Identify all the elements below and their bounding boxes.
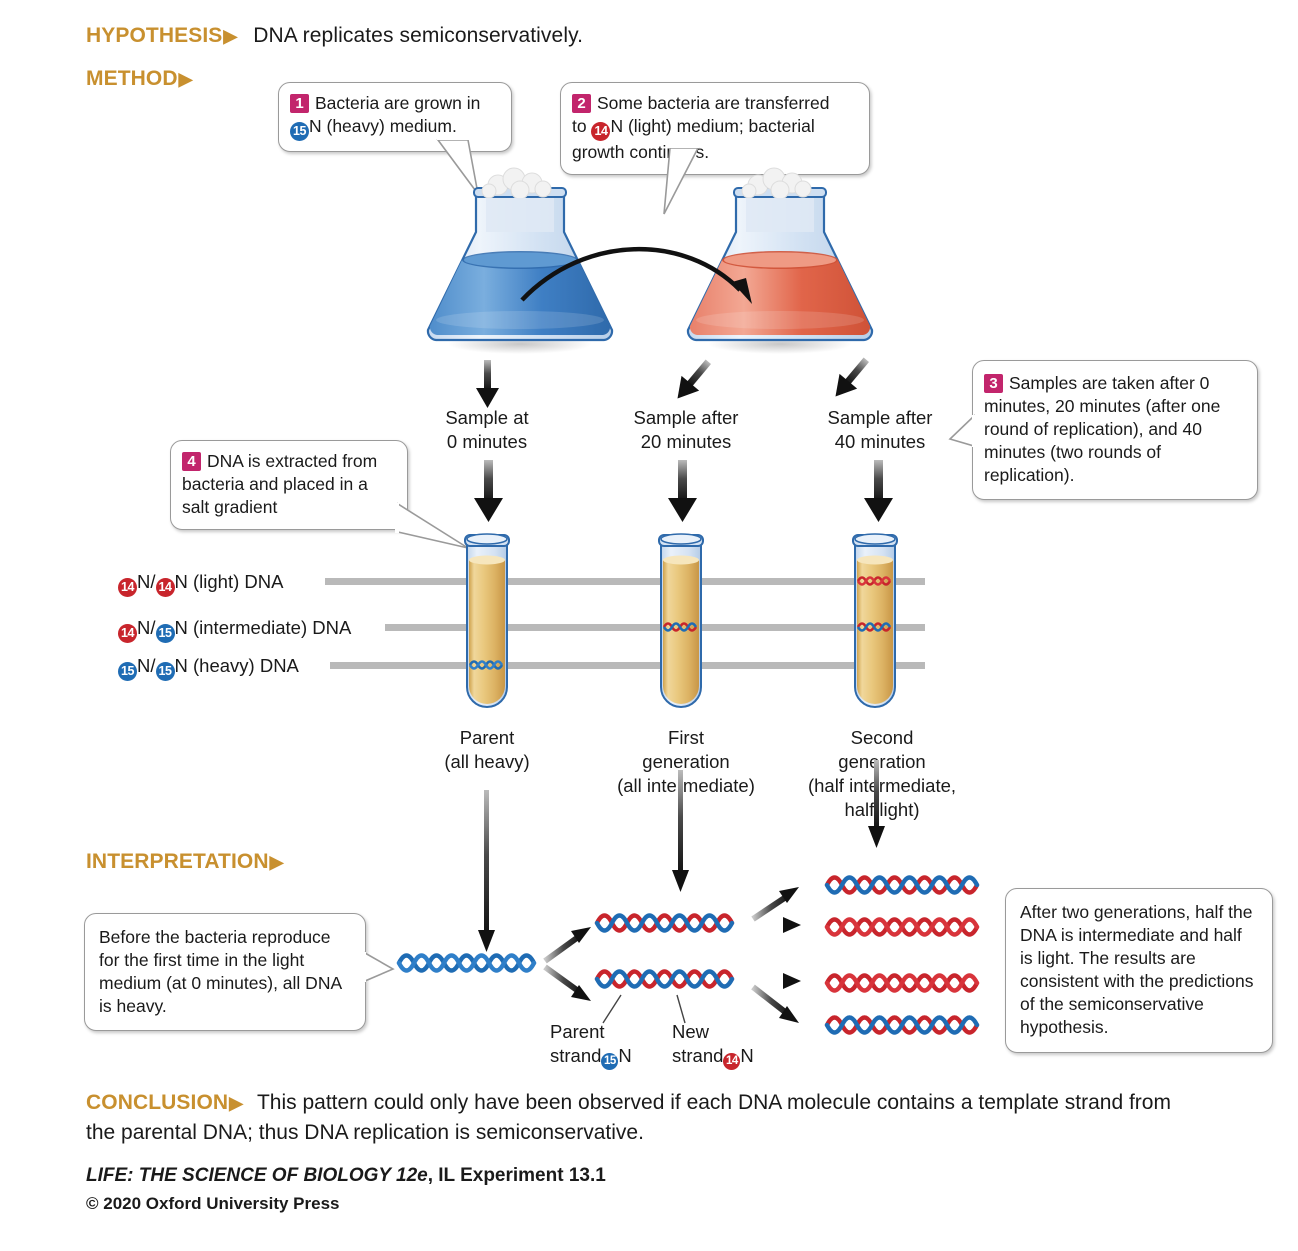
- hypothesis-text: DNA replicates semiconservatively.: [253, 24, 583, 47]
- isotope-14-badge: 14: [118, 578, 137, 597]
- interpretation-header: INTERPRETATION▶: [86, 850, 284, 874]
- conclusion-header: CONCLUSION▶: [86, 1091, 243, 1114]
- band-label-heavy-suffix: N (heavy) DNA: [175, 655, 299, 676]
- test-tubes: [440, 525, 920, 725]
- callout-3-bubble: 3Samples are taken after 0 minutes, 20 m…: [972, 360, 1258, 500]
- tube-caption-parent-line2: (all heavy): [412, 750, 562, 774]
- isotope-14-badge: 14: [723, 1053, 740, 1070]
- branch-arrow-down-2: [753, 987, 799, 1023]
- callout-4: 4DNA is extracted from bacteria and plac…: [170, 440, 408, 530]
- footer-title: LIFE: THE SCIENCE OF BIOLOGY 12e, IL Exp…: [86, 1165, 606, 1187]
- tube-caption-parent: Parent (all heavy): [412, 726, 562, 774]
- isotope-15-badge: 15: [156, 624, 175, 643]
- new-strand-line2: strand: [672, 1045, 723, 1066]
- callout-1-line1: Bacteria are grown in: [315, 93, 480, 113]
- tube-caption-parent-line1: Parent: [412, 726, 562, 750]
- branch-arrow-down-1: [545, 967, 591, 1001]
- callout-3-text: Samples are taken after 0 minutes, 20 mi…: [984, 373, 1220, 485]
- first-generation-tube: [659, 534, 703, 707]
- helix-gen2-1: [827, 878, 977, 893]
- arrow-sample-0: [476, 360, 499, 408]
- method-header: METHOD▶: [86, 67, 193, 91]
- callout-4-number: 4: [182, 452, 201, 471]
- isotope-14-badge: 14: [156, 578, 175, 597]
- band-label-intermediate-sep: N/: [137, 617, 156, 638]
- callout-4-bubble: 4DNA is extracted from bacteria and plac…: [170, 440, 408, 530]
- tube-caption-second-line2: generation: [788, 750, 976, 774]
- interpretation-right-text: After two generations, half the DNA is i…: [1020, 902, 1253, 1037]
- branch-arrow-straight-2b: [753, 973, 801, 989]
- tube-caption-second-line1: Second: [788, 726, 976, 750]
- arrow-sample-40: [827, 352, 875, 404]
- branch-arrow-up-1: [545, 927, 591, 961]
- interpretation-right-bubble: After two generations, half the DNA is i…: [1005, 888, 1273, 1053]
- callout-2-number: 2: [572, 94, 591, 113]
- callout-2: 2Some bacteria are transferred to 14N (l…: [560, 82, 870, 175]
- band-label-intermediate: 14N/15N (intermediate) DNA: [118, 616, 351, 643]
- arrow-to-parent-tube: [474, 460, 503, 522]
- isotope-14-badge: 14: [118, 624, 137, 643]
- method-triangle-icon: ▶: [179, 69, 193, 89]
- helix-gen1-top: [597, 916, 732, 931]
- branch-arrow-up-2: [753, 887, 799, 919]
- flask-diagram: [410, 172, 890, 362]
- footer-title-italic: LIFE: THE SCIENCE OF BIOLOGY 12e: [86, 1165, 428, 1186]
- tube-arrows: [430, 460, 970, 530]
- interpretation-right-callout: After two generations, half the DNA is i…: [1005, 888, 1273, 1053]
- isotope-15-badge: 15: [601, 1053, 618, 1070]
- sample-label-20-line1: Sample after: [606, 406, 766, 430]
- method-label: METHOD: [86, 67, 178, 90]
- isotope-15-badge: 15: [290, 122, 309, 141]
- footer-title-rest: , IL Experiment 13.1: [428, 1165, 606, 1186]
- band-label-heavy-sep: N/: [137, 655, 156, 676]
- conclusion-label: CONCLUSION: [86, 1091, 228, 1114]
- new-strand-legend: New strand14N: [672, 1020, 782, 1070]
- sample-label-0: Sample at 0 minutes: [412, 406, 562, 454]
- parent-strand-line1: Parent: [550, 1020, 660, 1044]
- callout-1-line2: N (heavy) medium.: [309, 116, 457, 136]
- interpretation-triangle-icon: ▶: [270, 852, 284, 872]
- helix-gen2-4: [827, 1018, 977, 1033]
- hypothesis-label: HYPOTHESIS: [86, 24, 222, 47]
- band-label-intermediate-suffix: N (intermediate) DNA: [175, 617, 352, 638]
- conclusion-triangle-icon: ▶: [229, 1093, 243, 1113]
- helix-gen2-3: [827, 976, 977, 991]
- sample-label-0-line1: Sample at: [412, 406, 562, 430]
- hypothesis-header: HYPOTHESIS▶ DNA replicates semiconservat…: [86, 24, 583, 48]
- interpretation-left-callout: Before the bacteria reproduce for the fi…: [84, 913, 366, 1031]
- strand-leader-lines: [603, 995, 685, 1023]
- arrow-to-second-gen-tube: [864, 460, 893, 522]
- sample-label-40-line2: 40 minutes: [800, 430, 960, 454]
- helix-gen2-2: [827, 920, 977, 935]
- footer-copyright: © 2020 Oxford University Press: [86, 1194, 339, 1214]
- parent-strand-suffix: N: [618, 1045, 631, 1066]
- new-strand-suffix: N: [740, 1045, 753, 1066]
- sample-label-40: Sample after 40 minutes: [800, 406, 960, 454]
- arrow-sample-20: [669, 354, 717, 406]
- parent-strand-line2: strand: [550, 1045, 601, 1066]
- second-generation-tube: [853, 534, 897, 707]
- arrow-to-first-gen-tube: [668, 460, 697, 522]
- callout-1: 1Bacteria are grown in 15N (heavy) mediu…: [278, 82, 512, 152]
- callout-4-text: DNA is extracted from bacteria and place…: [182, 451, 377, 517]
- interpretation-left-text: Before the bacteria reproduce for the fi…: [99, 927, 341, 1016]
- band-label-light-suffix: N (light) DNA: [175, 571, 284, 592]
- conclusion-text: This pattern could only have been observ…: [86, 1091, 1171, 1144]
- callout-2-line2-post: N (light) medium; bacterial: [610, 116, 814, 136]
- callout-2-line2-pre: to: [572, 116, 591, 136]
- new-strand-line1: New: [672, 1020, 782, 1044]
- tube-caption-first-line1: First: [596, 726, 776, 750]
- band-label-light-sep: N/: [137, 571, 156, 592]
- sample-label-40-line1: Sample after: [800, 406, 960, 430]
- conclusion-block: CONCLUSION▶ This pattern could only have…: [86, 1088, 1196, 1149]
- sample-label-20-line2: 20 minutes: [606, 430, 766, 454]
- hypothesis-triangle-icon: ▶: [223, 26, 237, 46]
- band-label-light: 14N/14N (light) DNA: [118, 570, 283, 597]
- parent-strand-legend: Parent strand15N: [550, 1020, 660, 1070]
- helix-gen1-bottom: [597, 972, 732, 987]
- callout-1-number: 1: [290, 94, 309, 113]
- branch-arrow-straight-2a: [753, 917, 801, 933]
- tube-caption-first-line2: generation: [596, 750, 776, 774]
- isotope-14-badge: 14: [591, 122, 610, 141]
- sample-label-0-line2: 0 minutes: [412, 430, 562, 454]
- isotope-15-badge: 15: [156, 662, 175, 681]
- band-label-heavy: 15N/15N (heavy) DNA: [118, 654, 299, 681]
- isotope-15-badge: 15: [118, 662, 137, 681]
- parent-tube: [465, 534, 509, 707]
- interpretation-label: INTERPRETATION: [86, 850, 269, 873]
- callout-2-line1: Some bacteria are transferred: [597, 93, 829, 113]
- interpretation-left-bubble: Before the bacteria reproduce for the fi…: [84, 913, 366, 1031]
- callout-3: 3Samples are taken after 0 minutes, 20 m…: [972, 360, 1258, 500]
- tube-caption-first: First generation (all intermediate): [596, 726, 776, 798]
- callout-3-number: 3: [984, 374, 1003, 393]
- sample-label-20: Sample after 20 minutes: [606, 406, 766, 454]
- helix-parent: [399, 956, 534, 971]
